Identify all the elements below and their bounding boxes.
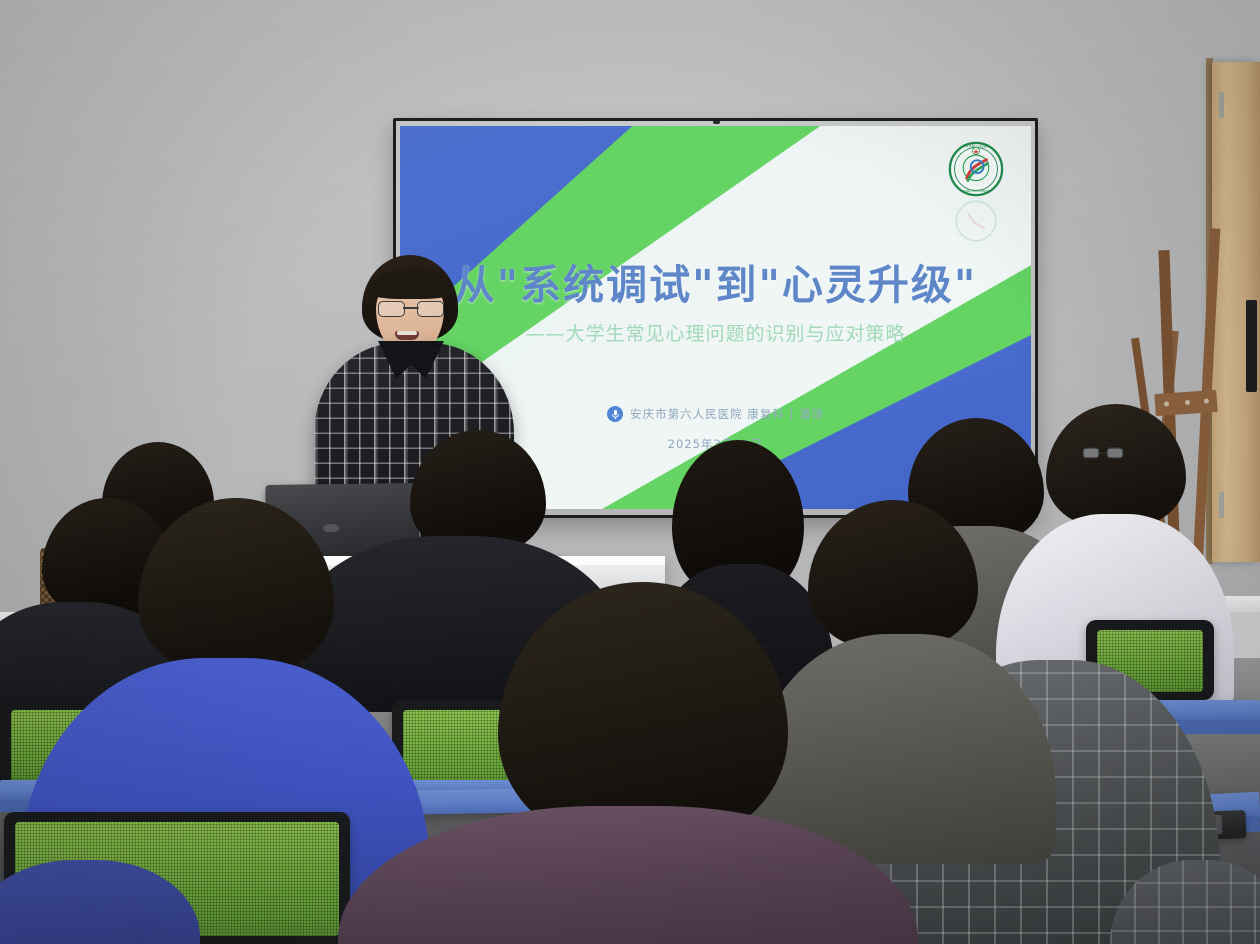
microphone-icon (607, 406, 623, 422)
hospital-logo-reflection-icon (947, 199, 1005, 243)
door-handle[interactable] (1246, 300, 1257, 392)
audience-member (0, 860, 200, 944)
slide-credit-text: 安庆市第六人民医院 康复科 | 潘琦 (630, 406, 824, 422)
hair (1046, 404, 1186, 528)
hospital-logo-icon: 安庆市第六人民医院 ANQING NO.6 HOSPITAL (947, 140, 1005, 198)
door-hinge-icon (1219, 92, 1224, 118)
lecture-hall-photo: 安庆市第六人民医院 ANQING NO.6 HOSPITAL 从"系统调试"到"… (0, 0, 1260, 944)
svg-text:安庆市第六人民医院: 安庆市第六人民医院 (963, 143, 989, 148)
torso (338, 806, 918, 944)
hair (498, 582, 788, 844)
hair (138, 498, 334, 676)
door-hinge-icon (1219, 492, 1224, 518)
eyeglasses-icon (1082, 446, 1128, 462)
eyeglasses-icon (378, 301, 444, 316)
presenter-teeth (397, 331, 417, 335)
svg-text:ANQING NO.6 HOSPITAL: ANQING NO.6 HOSPITAL (961, 189, 992, 193)
audience-member (1110, 860, 1260, 944)
torso (0, 860, 200, 944)
torso (1110, 860, 1260, 944)
audience-member (338, 582, 918, 944)
